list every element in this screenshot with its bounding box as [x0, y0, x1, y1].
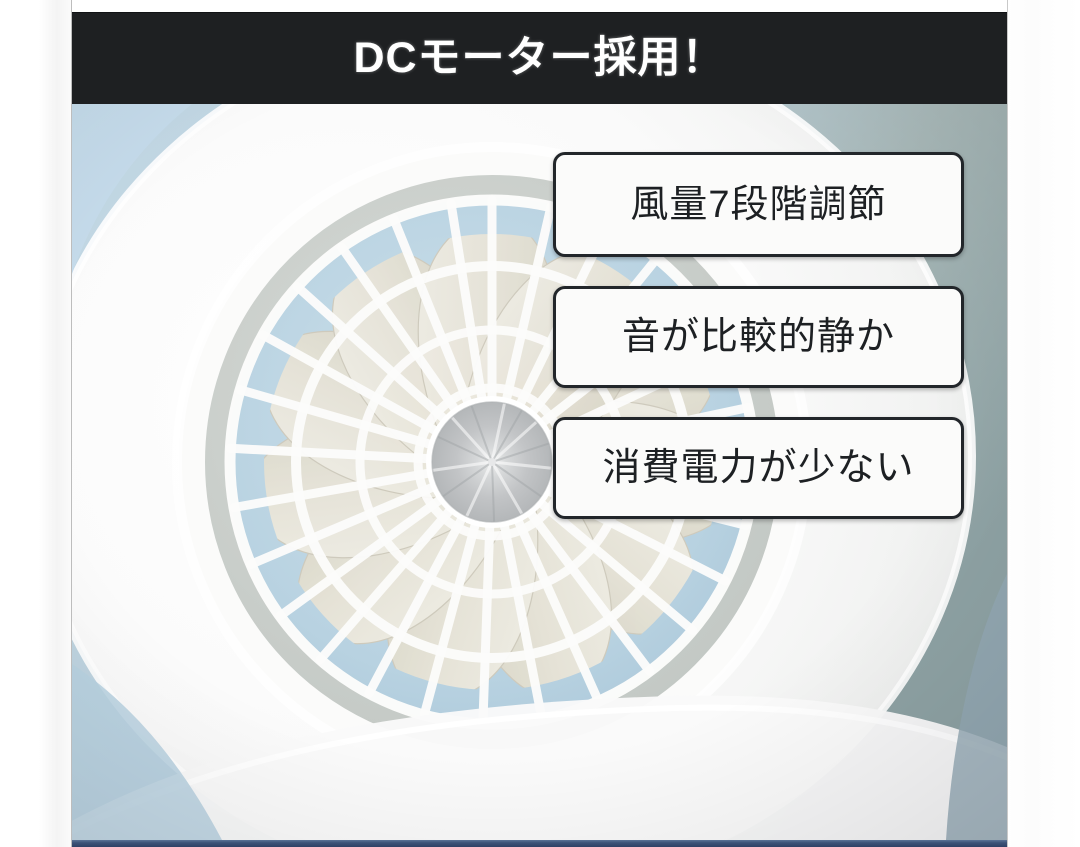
card-right-rule	[1007, 0, 1008, 847]
banner-title: DCモーター採用！	[353, 37, 725, 80]
feature-callout-label: 音が比較的静か	[622, 318, 895, 356]
previous-section-sliver	[72, 0, 1007, 13]
feature-callout-label: 風量7段階調節	[630, 186, 886, 224]
section-banner: DCモーター採用！	[72, 13, 1007, 104]
left-gutter	[0, 0, 71, 847]
feature-callout-airflow: 風量7段階調節	[553, 152, 964, 257]
feature-callout-quiet: 音が比較的静か	[553, 286, 964, 388]
feature-callout-label: 消費電力が少ない	[602, 449, 914, 487]
feature-callout-power: 消費電力が少ない	[553, 417, 964, 519]
right-gutter	[1008, 0, 1080, 847]
page-root: DCモーター採用！	[0, 0, 1080, 847]
bottom-accent-bar	[72, 840, 1007, 847]
